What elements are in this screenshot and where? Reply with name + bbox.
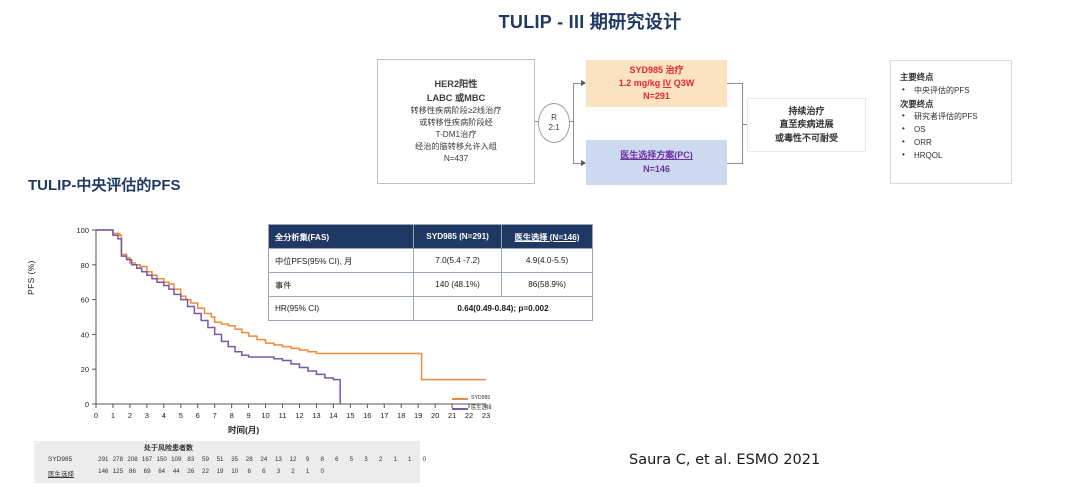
slide-root: TULIP - III 期研究设计 HER2阳性 LABC 或MBC 转移性疾病…: [0, 0, 1080, 487]
at-risk-value: 146: [96, 468, 111, 475]
svg-text:7: 7: [213, 411, 217, 420]
pfs-section-title: TULIP-中央评估的PFS: [28, 174, 181, 195]
secondary-endpoint-header: 次要终点: [900, 98, 1003, 112]
svg-text:17: 17: [380, 411, 388, 420]
eligibility-sample-size: N=437: [444, 153, 468, 165]
randomization-letter: R: [551, 113, 557, 123]
svg-text:1: 1: [111, 411, 115, 420]
arm-a-line-1: SYD985 治疗: [629, 64, 683, 77]
at-risk-values-syd985: 2912782081671501098359513528241312986532…: [96, 456, 432, 463]
at-risk-value: 278: [111, 456, 126, 463]
km-axes: 0204060801000123456789101112131415161718…: [76, 226, 490, 420]
svg-text:6: 6: [196, 411, 200, 420]
connector-arm-b-out: [727, 163, 743, 164]
at-risk-table: 处于风险患者数 SYD985 医生选择 29127820816715010983…: [34, 441, 420, 483]
eligibility-box: HER2阳性 LABC 或MBC 转移性疾病阶段≥2线治疗 或转移性疾病阶段经 …: [377, 59, 535, 184]
endpoints-box: 主要终点 中央评估的PFS 次要终点 研究者评估的PFS OS ORR HRQO…: [890, 60, 1012, 184]
at-risk-value: 12: [286, 456, 301, 463]
at-risk-title: 处于风险患者数: [144, 443, 193, 453]
at-risk-value: 44: [169, 468, 184, 475]
at-risk-value: 83: [184, 456, 199, 463]
citation: Saura C, et al. ESMO 2021: [629, 452, 820, 468]
svg-text:9: 9: [247, 411, 251, 420]
svg-text:16: 16: [363, 411, 371, 420]
legend-label-pc: 医生选择: [471, 404, 492, 414]
at-risk-row-label-pc: 医生选择: [48, 468, 74, 478]
eligibility-line-1: HER2阳性: [435, 78, 478, 91]
list-item: ORR: [900, 137, 1003, 150]
treatment-arm-syd985: SYD985 治疗 1.2 mg/kg IV Q3W N=291: [586, 60, 727, 107]
at-risk-value: 3: [359, 456, 374, 463]
table-cell-value: 4.9(4.0-5.5): [502, 249, 593, 273]
at-risk-value: 35: [227, 456, 242, 463]
at-risk-value: 0: [417, 456, 432, 463]
primary-endpoint-header: 主要终点: [900, 71, 1003, 85]
table-header-cell: 医生选择 (N=146): [502, 225, 593, 249]
at-risk-value: 6: [330, 456, 345, 463]
svg-text:4: 4: [162, 411, 166, 420]
svg-text:10: 10: [261, 411, 269, 420]
list-item: HRQOL: [900, 150, 1003, 163]
svg-text:20: 20: [81, 365, 89, 374]
eligibility-line-5: T-DM1治疗: [436, 129, 477, 141]
at-risk-value: 64: [154, 468, 169, 475]
randomization-ratio: 2:1: [548, 123, 559, 133]
svg-text:12: 12: [295, 411, 303, 420]
at-risk-value: 8: [315, 456, 330, 463]
at-risk-value: 69: [140, 468, 155, 475]
list-item: 中央评估的PFS: [900, 85, 1003, 98]
at-risk-value: 6: [242, 468, 257, 475]
svg-text:8: 8: [230, 411, 234, 420]
eligibility-line-2: LABC 或MBC: [427, 92, 485, 105]
at-risk-value: 13: [271, 456, 286, 463]
randomization-node: R 2:1: [538, 103, 570, 143]
at-risk-value: 9: [300, 456, 315, 463]
list-item: 研究者评估的PFS: [900, 111, 1003, 124]
arm-a-dose-pre: 1.2 mg/kg: [619, 78, 663, 88]
at-risk-value: 2: [373, 456, 388, 463]
at-risk-value: 109: [169, 456, 184, 463]
at-risk-value: 0: [315, 468, 330, 475]
legend-swatch-syd985: [452, 398, 468, 400]
list-item: OS: [900, 124, 1003, 137]
at-risk-value: 19: [213, 468, 228, 475]
at-risk-value: 291: [96, 456, 111, 463]
eligibility-line-3: 转移性疾病阶段≥2线治疗: [411, 105, 502, 117]
at-risk-value: 125: [111, 468, 126, 475]
at-risk-value: 208: [125, 456, 140, 463]
arm-a-schedule: Q3W: [671, 78, 694, 88]
at-risk-row-label-syd985: SYD985: [48, 456, 72, 463]
svg-text:20: 20: [431, 411, 439, 420]
at-risk-value: 1: [388, 456, 403, 463]
continuation-box: 持续治疗 直至疾病进展 或毒性不可耐受: [747, 98, 866, 152]
arm-b-line-1: 医生选择方案(PC): [620, 149, 693, 162]
at-risk-value: 26: [184, 468, 199, 475]
km-plot: 0204060801000123456789101112131415161718…: [24, 222, 494, 437]
continuation-line-1: 持续治疗: [788, 105, 824, 119]
at-risk-value: 24: [257, 456, 272, 463]
at-risk-value: 10: [227, 468, 242, 475]
svg-text:13: 13: [312, 411, 320, 420]
continuation-line-2: 直至疾病进展: [779, 118, 833, 132]
km-curves: [96, 230, 486, 404]
at-risk-value: 6: [257, 468, 272, 475]
legend-item-pc: 医生选择: [452, 404, 492, 414]
arm-a-route: IV: [663, 78, 672, 88]
svg-text:0: 0: [85, 400, 89, 409]
at-risk-value: 86: [125, 468, 140, 475]
svg-text:2: 2: [128, 411, 132, 420]
arm-b-sample-size: N=146: [643, 163, 670, 176]
svg-text:0: 0: [94, 411, 98, 420]
at-risk-value: 1: [402, 456, 417, 463]
svg-text:60: 60: [81, 296, 89, 305]
svg-text:11: 11: [279, 411, 287, 420]
svg-text:80: 80: [81, 261, 89, 270]
legend-label-syd985: SYD985: [471, 394, 490, 404]
page-title: TULIP - III 期研究设计: [380, 8, 800, 34]
svg-text:3: 3: [145, 411, 149, 420]
at-risk-value: 5: [344, 456, 359, 463]
chart-legend: SYD985 医生选择: [452, 394, 492, 414]
connector-rand-vertical: [573, 83, 574, 163]
at-risk-value: 51: [213, 456, 228, 463]
eligibility-line-6: 经治的脑转移允许入组: [415, 141, 497, 153]
svg-text:19: 19: [414, 411, 422, 420]
svg-text:18: 18: [397, 411, 405, 420]
at-risk-value: 28: [242, 456, 257, 463]
at-risk-values-pc: 1461258669644426221910663210: [96, 468, 330, 475]
secondary-endpoint-list: 研究者评估的PFS OS ORR HRQOL: [900, 111, 1003, 163]
eligibility-line-4: 或转移性疾病阶段经: [419, 117, 493, 129]
legend-swatch-pc: [452, 408, 468, 410]
svg-text:5: 5: [179, 411, 183, 420]
legend-item-syd985: SYD985: [452, 394, 492, 404]
svg-text:40: 40: [81, 330, 89, 339]
at-risk-value: 2: [286, 468, 301, 475]
at-risk-value: 167: [140, 456, 155, 463]
at-risk-value: 3: [271, 468, 286, 475]
at-risk-value: 59: [198, 456, 213, 463]
arm-a-sample-size: N=291: [643, 90, 670, 103]
at-risk-value: 150: [154, 456, 169, 463]
svg-text:15: 15: [346, 411, 354, 420]
table-cell-value: 86(58.9%): [502, 273, 593, 297]
at-risk-value: 1: [300, 468, 315, 475]
svg-text:100: 100: [76, 226, 89, 235]
connector-arm-a-out: [727, 83, 743, 84]
treatment-arm-physicians-choice: 医生选择方案(PC) N=146: [586, 140, 727, 185]
continuation-line-3: 或毒性不可耐受: [775, 132, 838, 146]
arm-a-dose: 1.2 mg/kg IV Q3W: [619, 77, 695, 90]
at-risk-value: 22: [198, 468, 213, 475]
primary-endpoint-list: 中央评估的PFS: [900, 85, 1003, 98]
svg-text:14: 14: [329, 411, 337, 420]
